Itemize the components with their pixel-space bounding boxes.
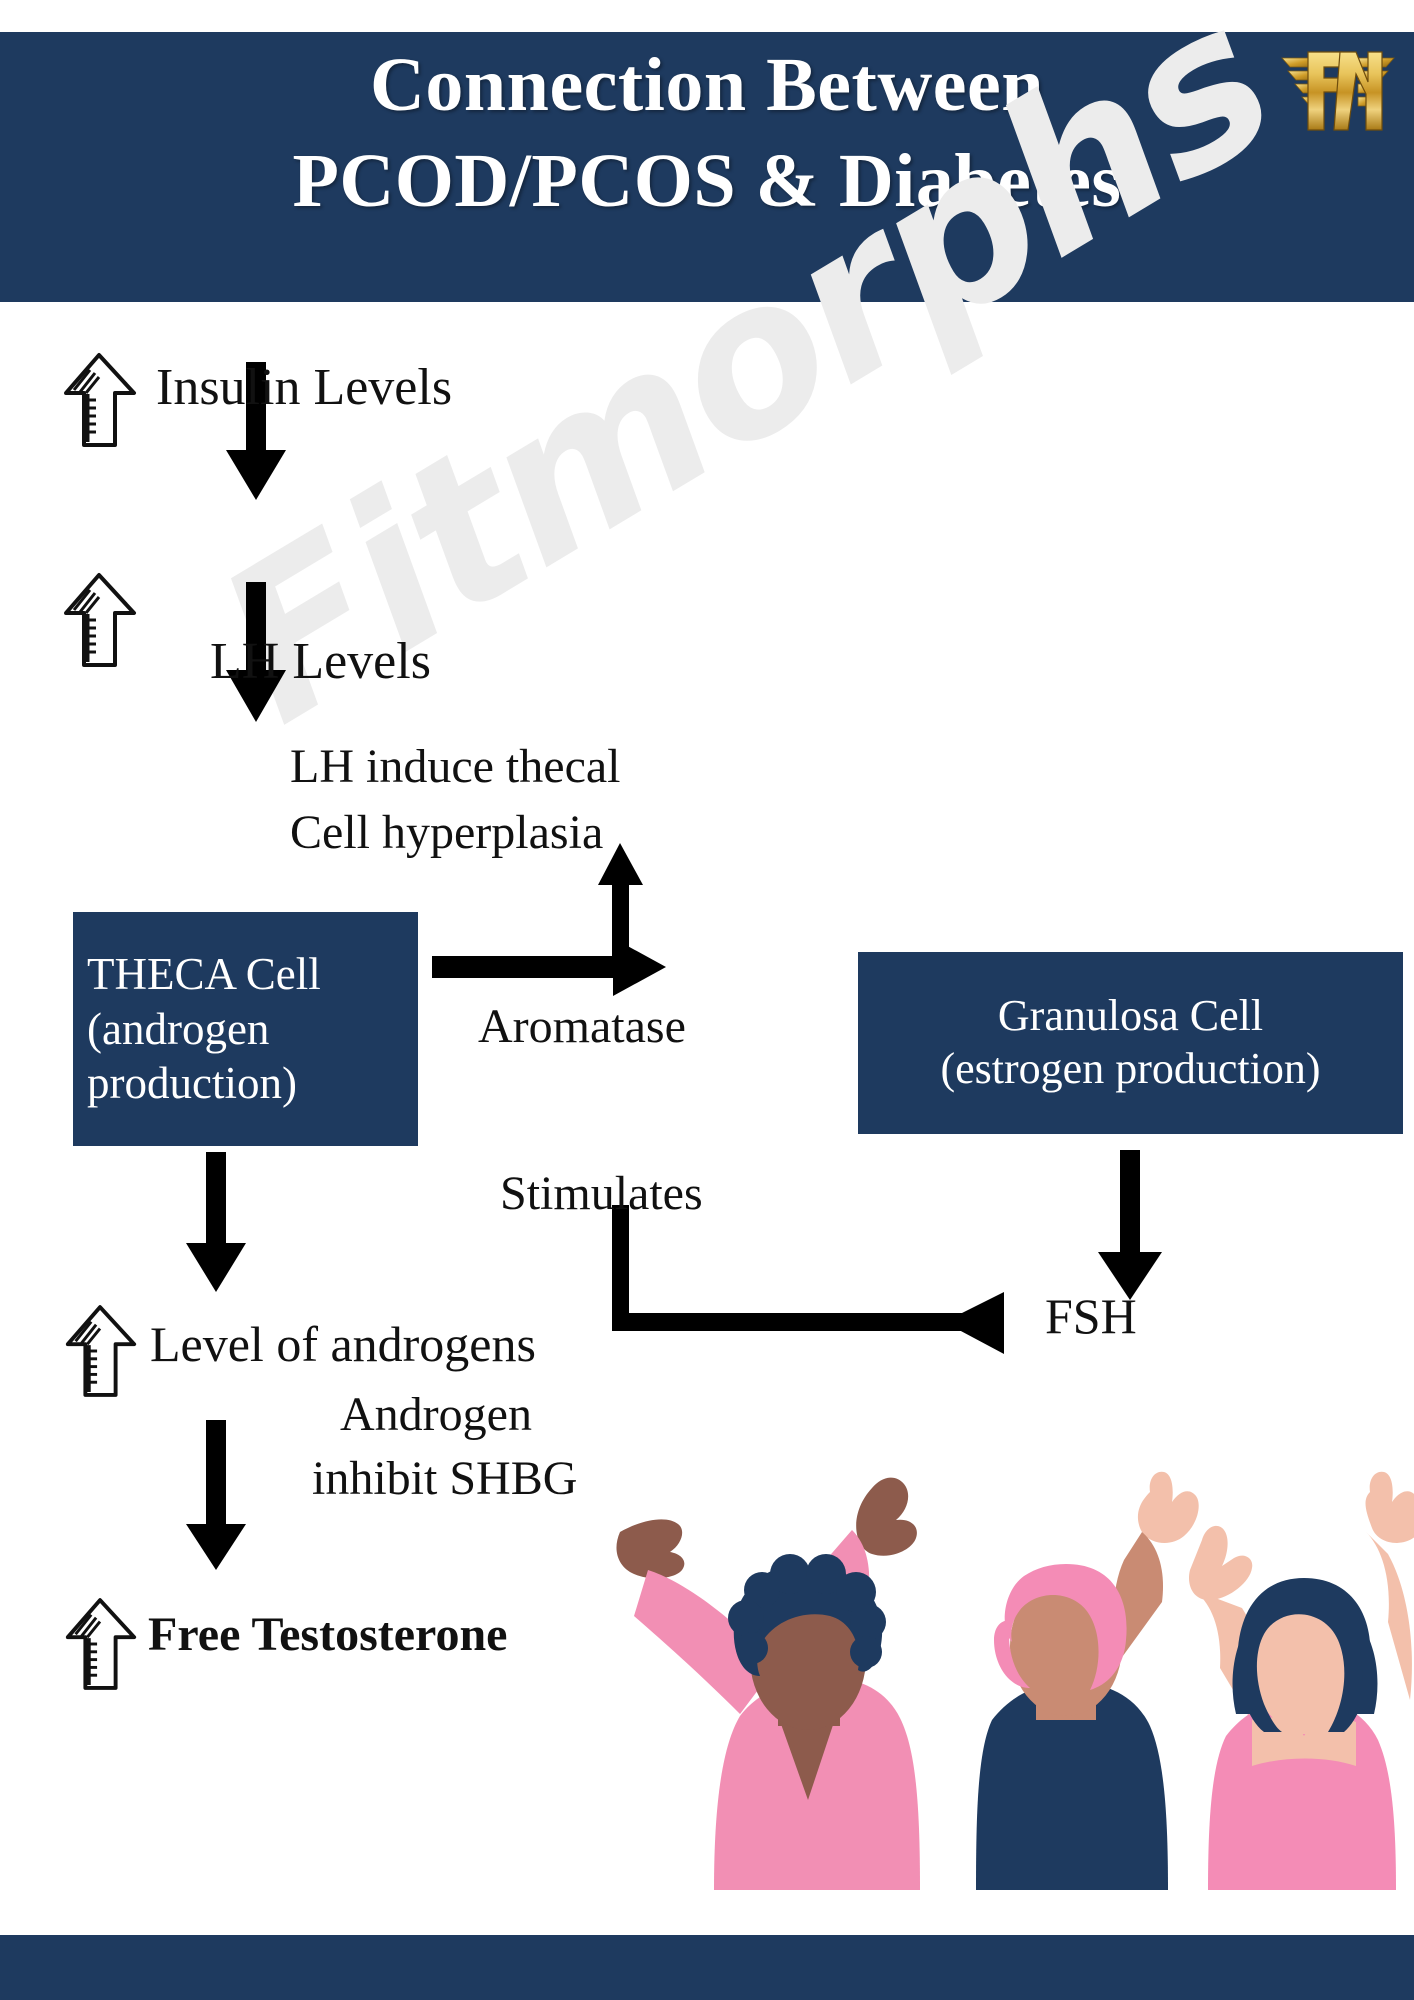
edge-label-aromatase: Aromatase: [478, 1000, 686, 1055]
flow-label-androgens: Level of androgens: [150, 1316, 536, 1373]
infographic-poster: Connection Between PCOD/PCOS & Diabetes: [0, 0, 1414, 2000]
edge-label-lh-induce-line-2: Cell hyperplasia: [290, 806, 603, 861]
edge-label-stimulates: Stimulates: [500, 1167, 703, 1222]
edge-label-lh-induce-line-1: LH induce thecal: [290, 740, 621, 795]
edge-label-shbg-line-1: Androgen: [340, 1388, 532, 1443]
flow-label-lh: LH Levels: [210, 632, 431, 691]
footer-bar: [0, 1935, 1414, 2000]
flow-label-testosterone: Free Testosterone: [148, 1608, 507, 1663]
flow-label-insulin: Insulin Levels: [156, 358, 452, 417]
edge-label-fsh: FSH: [1045, 1288, 1137, 1345]
flow-labels-layer: Insulin Levels LH Levels LH induce theca…: [0, 0, 1414, 2000]
edge-label-shbg-line-2: inhibit SHBG: [312, 1452, 577, 1507]
